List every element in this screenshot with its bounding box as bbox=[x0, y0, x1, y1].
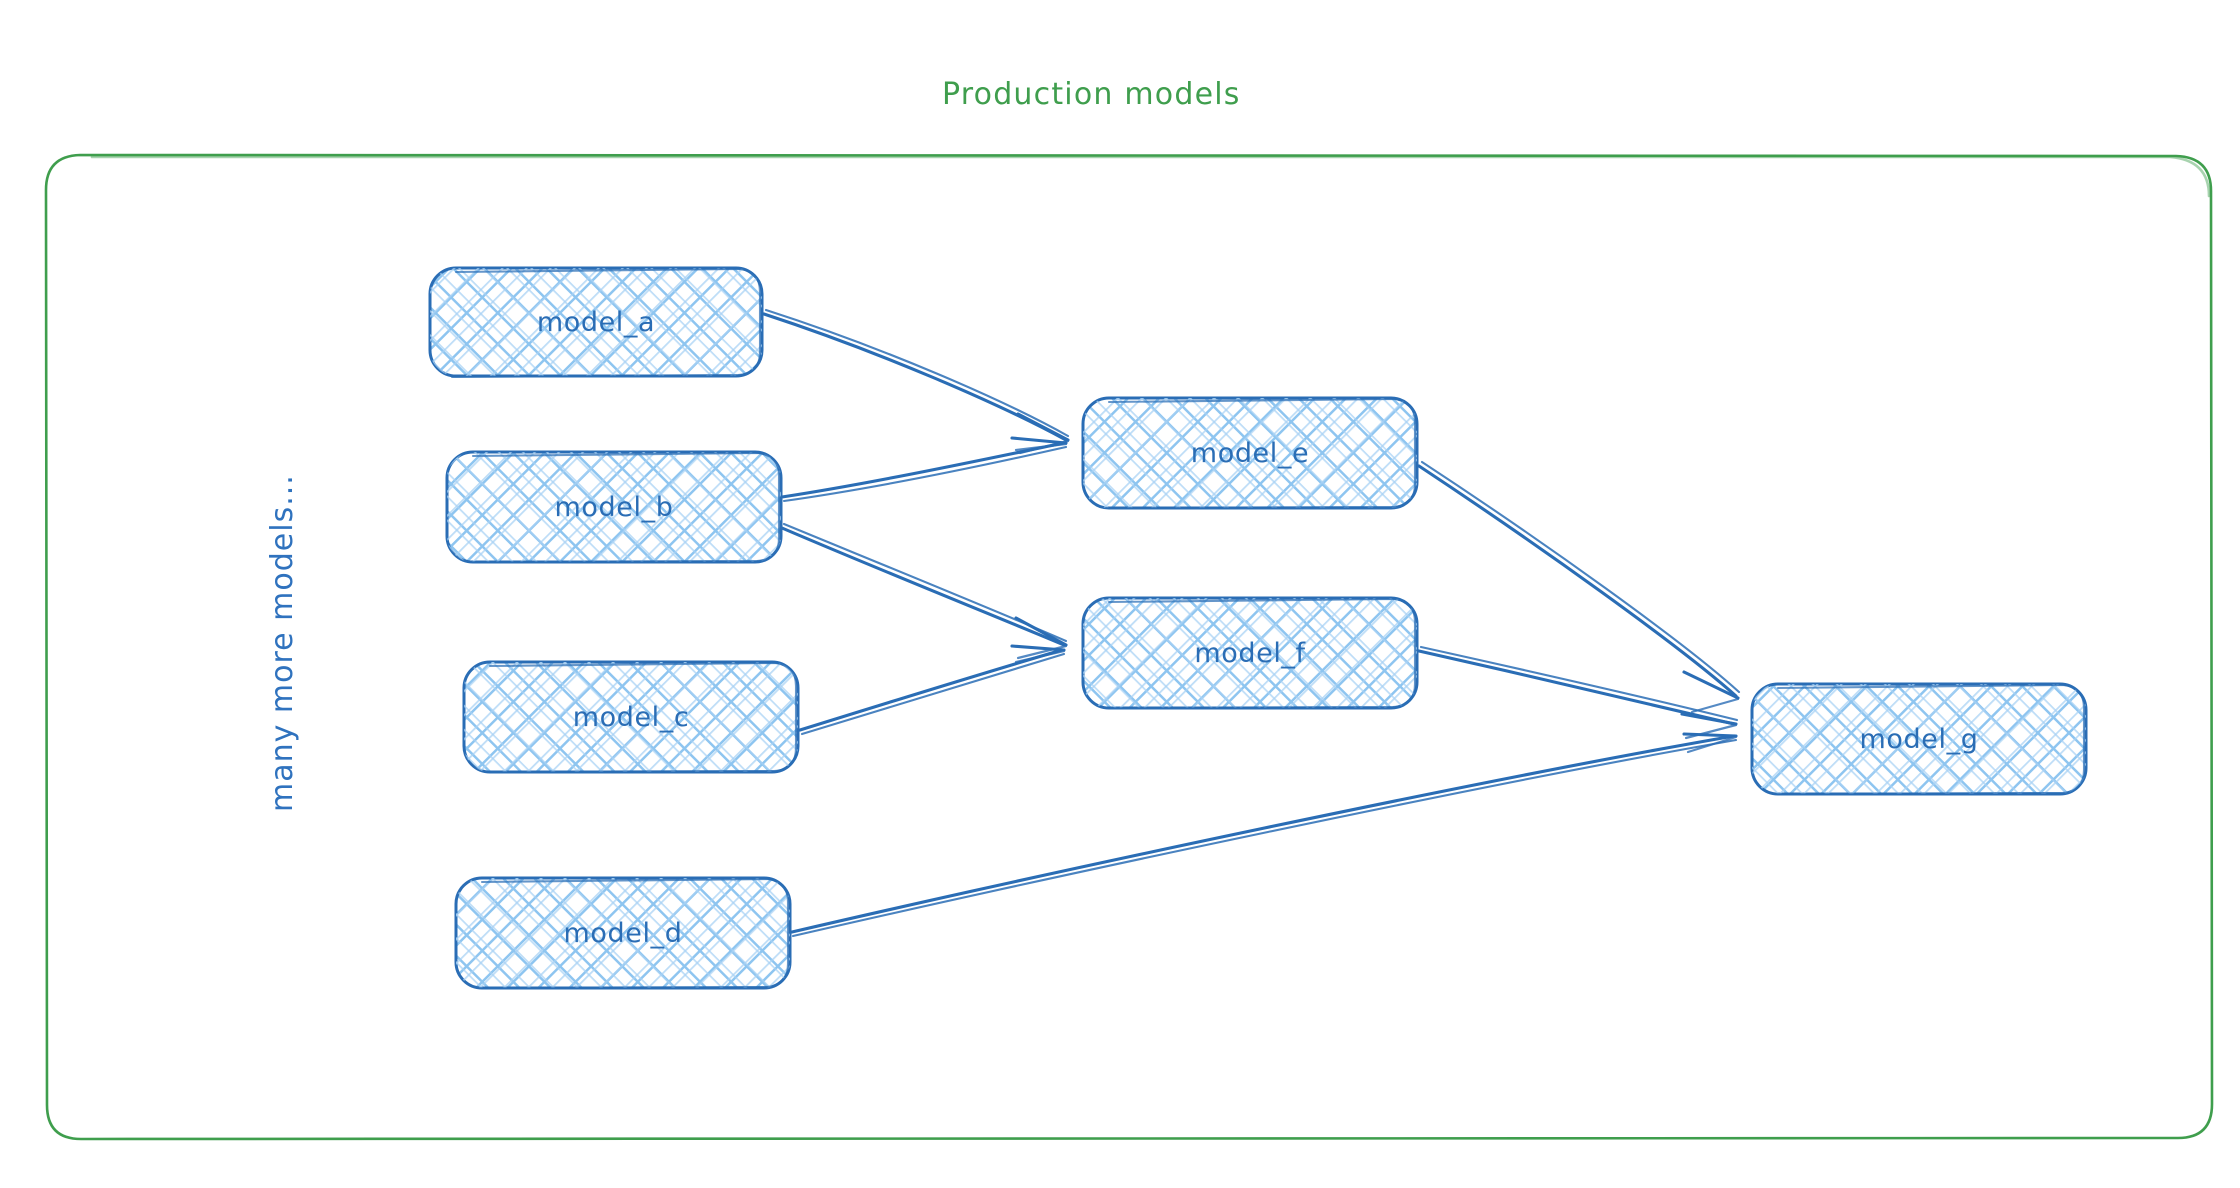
node-label-model-d: model_d bbox=[564, 918, 683, 949]
node-model-a[interactable]: model_a bbox=[430, 268, 762, 377]
many-more-models-note: many more models... bbox=[265, 474, 300, 812]
edge-model-b-to-model-e bbox=[782, 438, 1066, 501]
node-model-c[interactable]: model_c bbox=[464, 662, 798, 772]
edge-model-e-to-model-g bbox=[1419, 462, 1739, 712]
node-label-model-a: model_a bbox=[537, 307, 655, 338]
edge-model-a-to-model-e bbox=[764, 310, 1068, 453]
node-model-d[interactable]: model_d bbox=[456, 878, 790, 988]
edge-model-d-to-model-g bbox=[792, 734, 1736, 936]
node-label-model-g: model_g bbox=[1860, 724, 1979, 755]
edge-model-f-to-model-g bbox=[1419, 647, 1737, 738]
node-label-model-f: model_f bbox=[1194, 638, 1306, 669]
node-model-g[interactable]: model_g bbox=[1752, 684, 2086, 794]
node-label-model-e: model_e bbox=[1191, 438, 1309, 469]
edge-model-c-to-model-f bbox=[800, 646, 1064, 734]
node-model-f[interactable]: model_f bbox=[1083, 598, 1417, 708]
diagram-title: Production models bbox=[942, 77, 1241, 112]
node-label-model-c: model_c bbox=[573, 702, 690, 733]
diagram-canvas: Production models many more models... bbox=[0, 0, 2240, 1188]
node-model-b[interactable]: model_b bbox=[447, 452, 781, 562]
side-note-label: many more models... bbox=[265, 474, 300, 812]
diagram-svg: Production models many more models... bbox=[0, 0, 2240, 1188]
edge-model-b-to-model-f bbox=[782, 524, 1066, 658]
node-label-model-b: model_b bbox=[555, 492, 674, 523]
node-model-e[interactable]: model_e bbox=[1083, 398, 1417, 508]
